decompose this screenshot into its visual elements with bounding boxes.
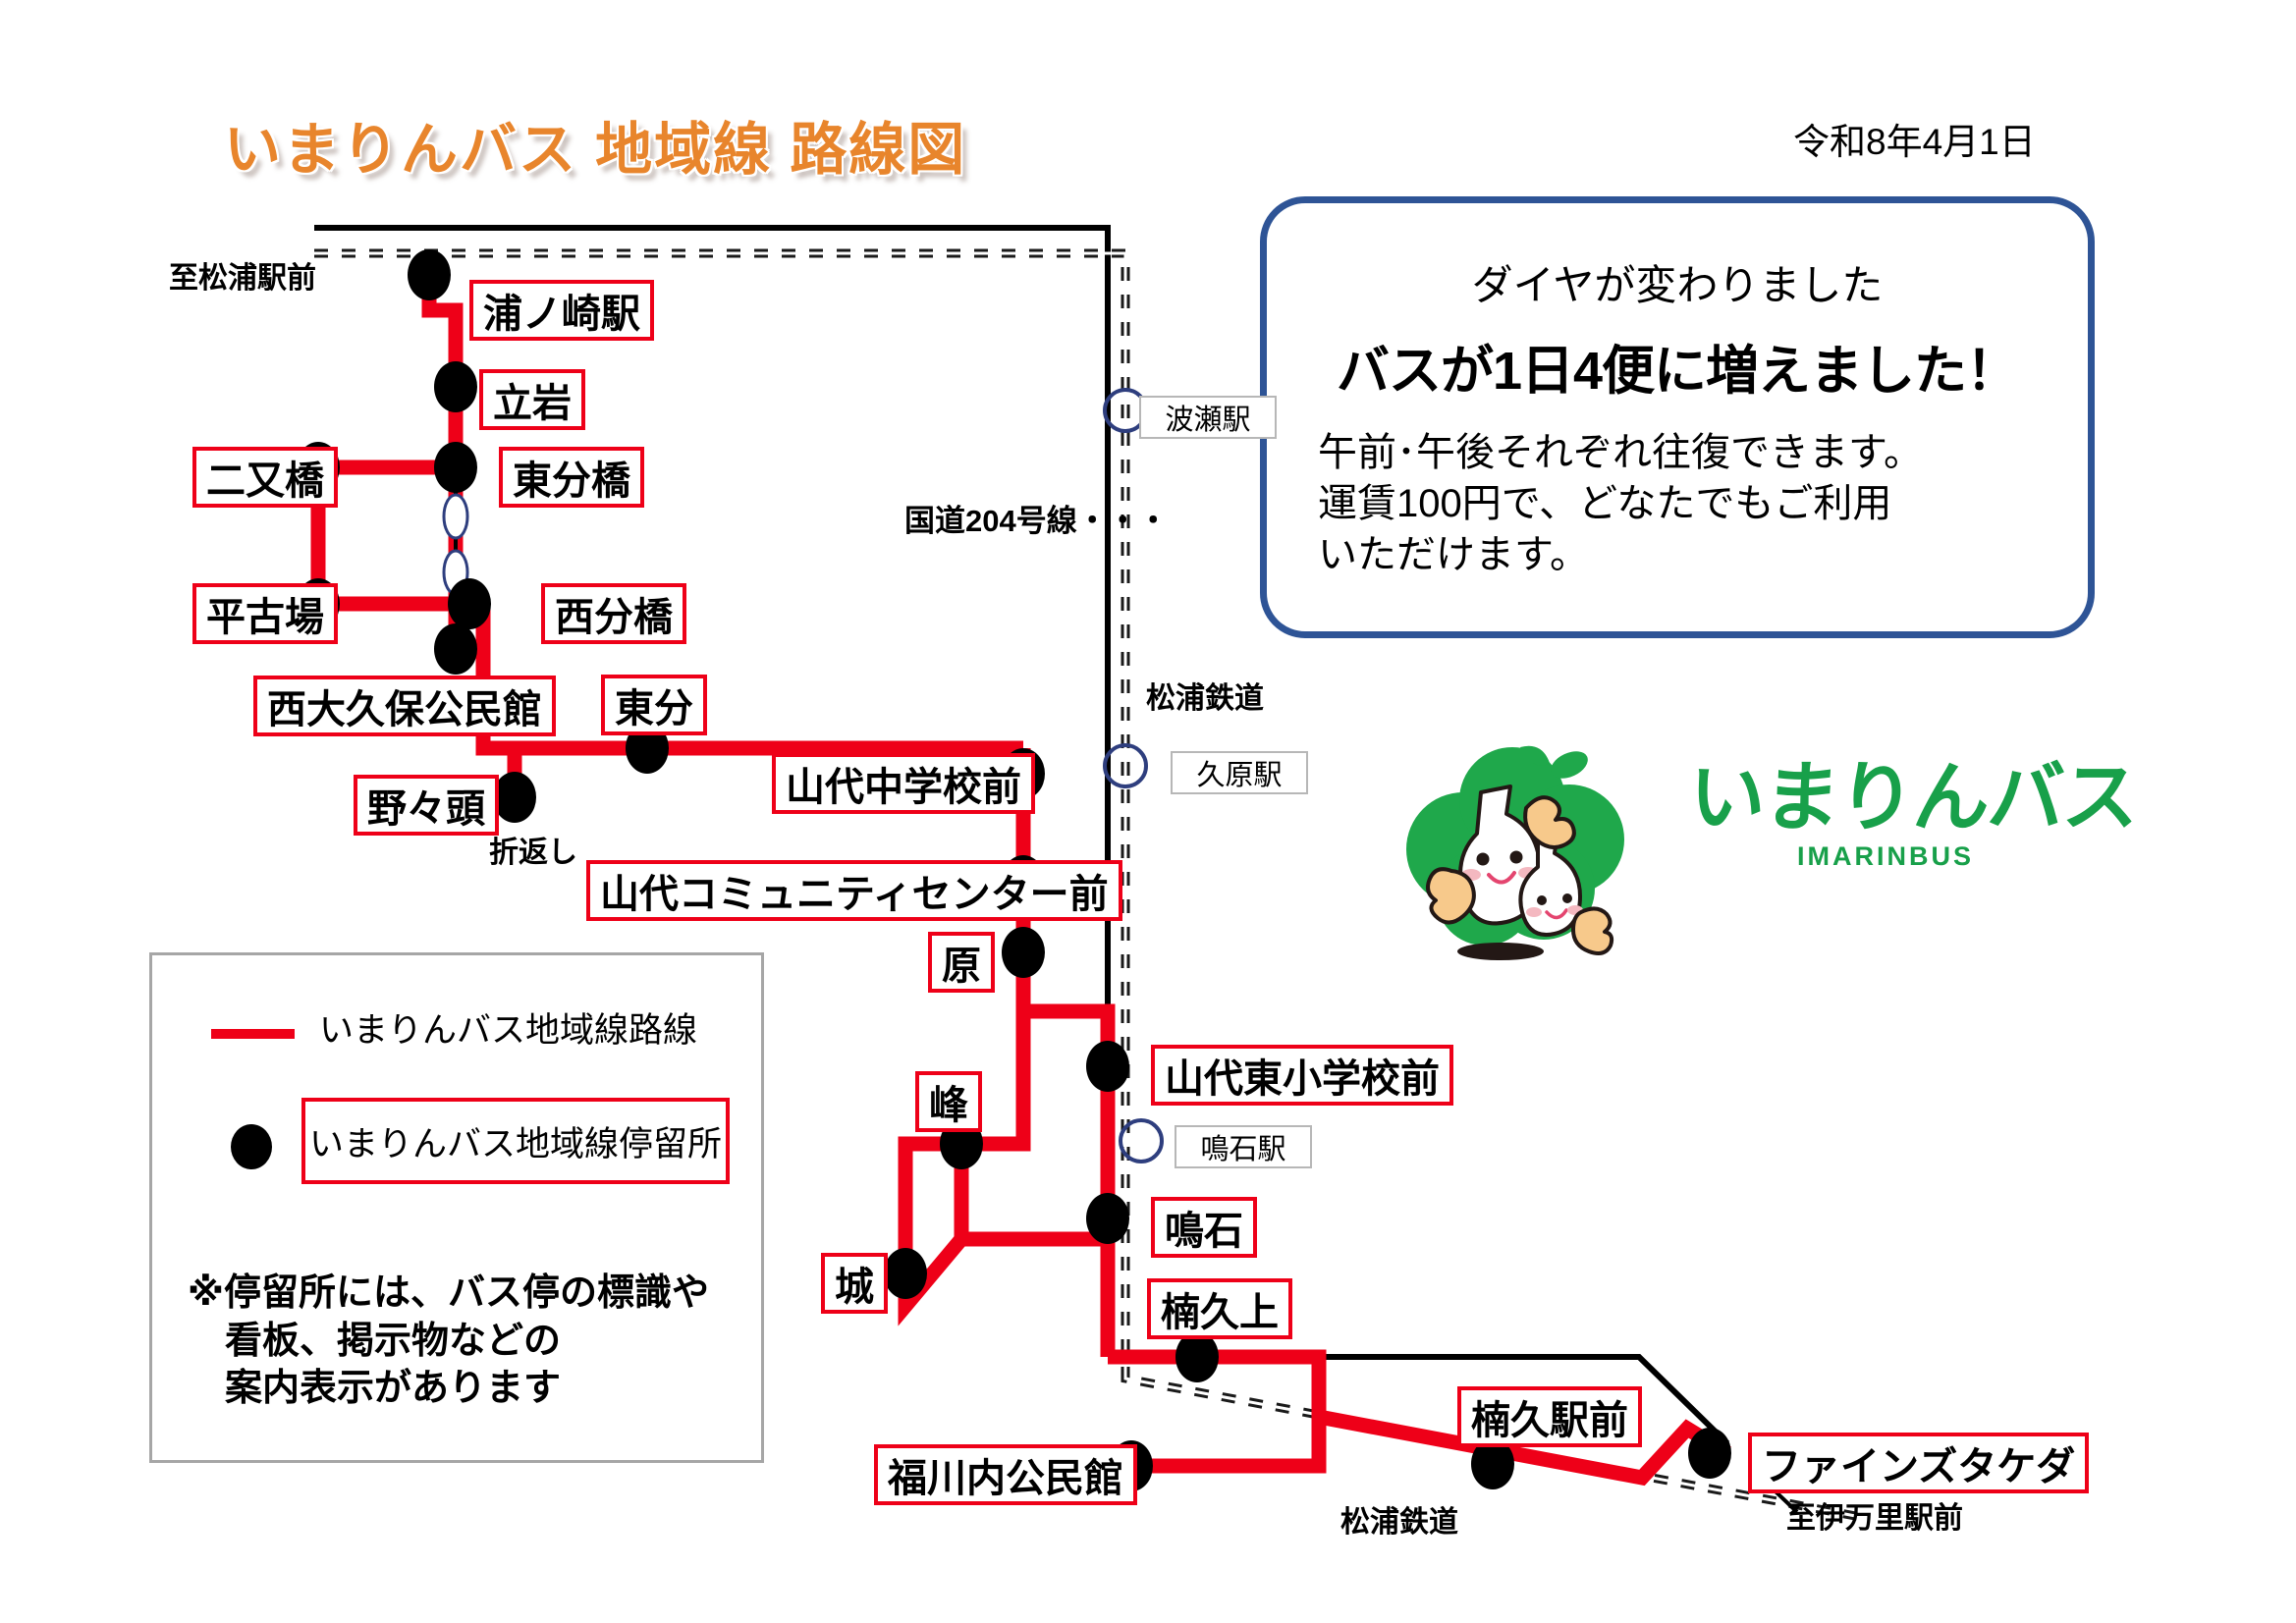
map-annotation-label: 松浦鉄道 — [1340, 1497, 1458, 1541]
bus-stop-label: 浦ノ崎駅 — [469, 280, 654, 341]
bus-stop-label: 二又橋 — [192, 447, 338, 508]
bus-stop-label: 野々頭 — [354, 775, 499, 836]
bus-stop-dot-icon — [493, 772, 536, 823]
bus-stop-label: ファインズタケダ — [1748, 1433, 2089, 1493]
bus-stop-dot-icon — [448, 578, 491, 629]
bus-stop-label: 山代コミュニティセンター前 — [586, 860, 1122, 921]
bus-stop-dot-icon — [1086, 1193, 1129, 1244]
bus-stop-dot-icon — [884, 1248, 927, 1299]
bus-stop-label: 城 — [821, 1253, 888, 1314]
bus-stop-label: 福川内公民館 — [874, 1444, 1137, 1505]
railway-station-label: 波瀬駅 — [1139, 396, 1277, 439]
bus-stop-dot-icon — [434, 442, 477, 493]
bus-stop-label: 楠久上 — [1147, 1278, 1292, 1339]
bridge-marker-icon-1 — [444, 495, 467, 538]
railway-station-label: 久原駅 — [1171, 751, 1308, 794]
bus-stop-label: 西分橋 — [541, 583, 686, 644]
bus-stop-label: 平古場 — [192, 583, 338, 644]
bus-stop-dot-icon — [434, 623, 477, 675]
route-map-canvas — [0, 0, 2296, 1623]
map-annotation-label: 至松浦駅前 — [169, 253, 316, 297]
bus-stop-label: 立岩 — [479, 369, 585, 430]
map-annotation-label: 折返し — [489, 828, 577, 871]
map-annotation-label: 国道204号線・・・ — [904, 496, 1169, 540]
bus-stop-label: 鳴石 — [1151, 1197, 1257, 1258]
bus-stop-label: 西大久保公民館 — [253, 676, 556, 736]
bus-stop-dot-icon — [1086, 1041, 1129, 1092]
bus-stop-label: 峰 — [915, 1071, 982, 1132]
bus-stop-label: 原 — [928, 932, 995, 993]
map-annotation-label: 松浦鉄道 — [1146, 674, 1264, 717]
railway-station-label: 鳴石駅 — [1175, 1125, 1312, 1168]
bus-stop-dot-icon — [408, 249, 451, 300]
bus-stop-label: 山代中学校前 — [772, 753, 1035, 814]
bus-stop-label: 東分橋 — [499, 447, 644, 508]
bus-stop-dot-icon — [1688, 1428, 1731, 1479]
map-annotation-label: 至伊万里駅前 — [1786, 1493, 1963, 1537]
bus-stop-dot-icon — [1002, 927, 1045, 978]
bus-stop-label: 楠久駅前 — [1457, 1386, 1642, 1447]
bus-stop-label: 山代東小学校前 — [1151, 1045, 1453, 1106]
bus-stop-label: 東分 — [601, 675, 707, 735]
bus-stop-dot-icon — [434, 361, 477, 412]
